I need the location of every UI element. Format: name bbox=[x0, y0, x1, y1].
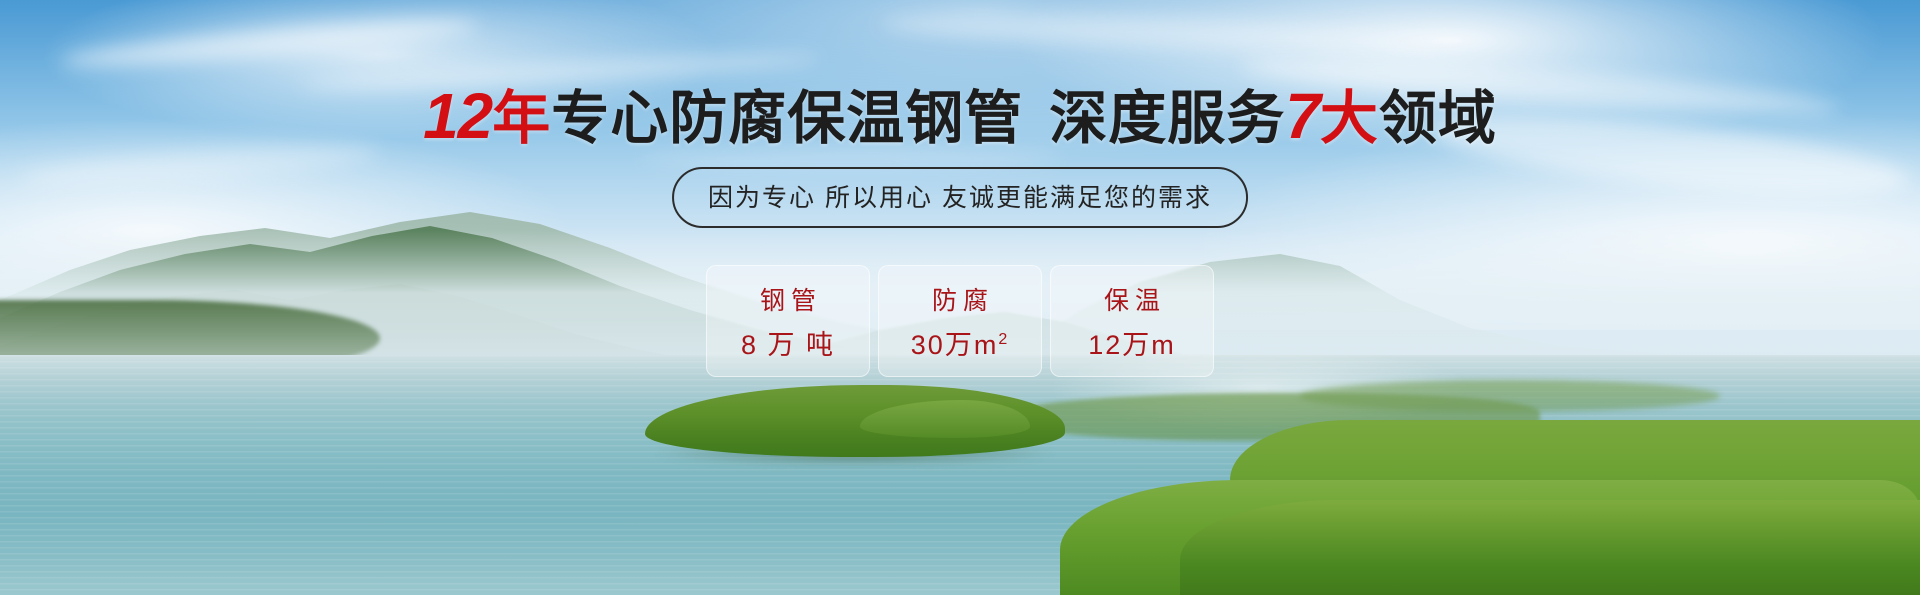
banner-subtitle-pill: 因为专心 所以用心 友诚更能满足您的需求 bbox=[672, 167, 1248, 228]
stat-card-label: 防腐 bbox=[926, 281, 994, 317]
headline-years-number: 12 bbox=[423, 80, 492, 152]
stat-card-value-text: 12万m bbox=[1088, 330, 1176, 360]
banner-subtitle-text: 因为专心 所以用心 友诚更能满足您的需求 bbox=[708, 184, 1212, 212]
banner-content: 12年专心防腐保温钢管深度服务7大领域 因为专心 所以用心 友诚更能满足您的需求… bbox=[0, 0, 1920, 595]
stat-card-group: 钢管 8 万 吨 防腐 30万m2 保温 12万m bbox=[706, 265, 1214, 377]
headline-fields-unit: 大 bbox=[1320, 86, 1379, 151]
headline-fields-number: 7 bbox=[1285, 80, 1320, 152]
banner-headline: 12年专心防腐保温钢管深度服务7大领域 bbox=[0, 84, 1920, 148]
stat-card-value-superscript: 2 bbox=[998, 331, 1009, 348]
stat-card-value-text: 8 万 吨 bbox=[741, 330, 835, 360]
stat-card-value: 30万m2 bbox=[911, 323, 1009, 362]
stat-card-value: 12万m bbox=[1088, 323, 1176, 362]
headline-main-text: 专心防腐保温钢管 bbox=[551, 86, 1023, 151]
stat-card-label: 钢管 bbox=[754, 281, 822, 317]
headline-fields-text: 领域 bbox=[1379, 86, 1497, 151]
stat-card-anticorrosion: 防腐 30万m2 bbox=[878, 265, 1042, 377]
stat-card-value: 8 万 吨 bbox=[741, 323, 835, 362]
stat-card-value-text: 30万m bbox=[911, 330, 999, 360]
hero-banner: 12年专心防腐保温钢管深度服务7大领域 因为专心 所以用心 友诚更能满足您的需求… bbox=[0, 0, 1920, 595]
stat-card-label: 保温 bbox=[1098, 281, 1166, 317]
stat-card-insulation: 保温 12万m bbox=[1050, 265, 1214, 377]
headline-years-unit: 年 bbox=[492, 86, 551, 151]
headline-service-text: 深度服务 bbox=[1049, 86, 1285, 151]
stat-card-steel-pipe: 钢管 8 万 吨 bbox=[706, 265, 870, 377]
